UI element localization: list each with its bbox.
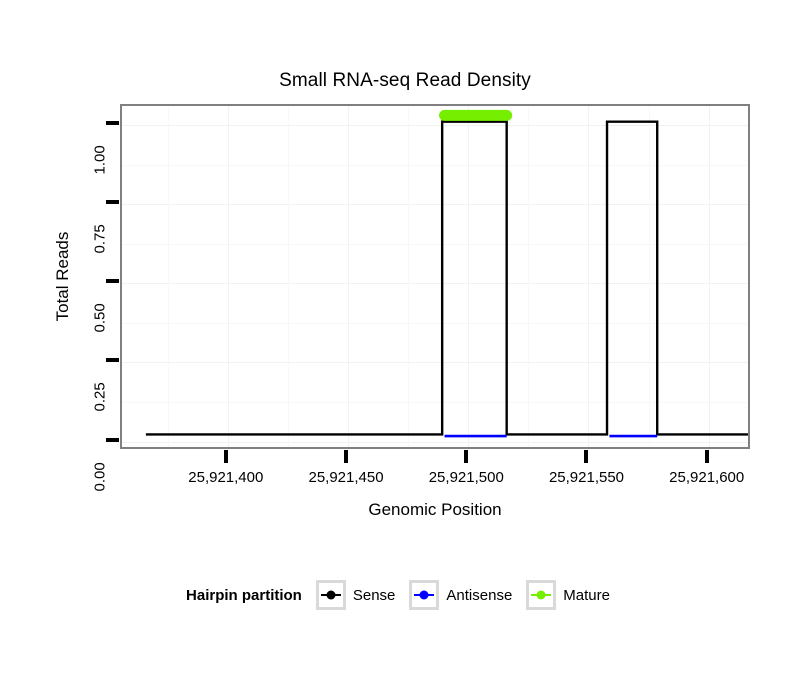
chart-legend: Hairpin partition SenseAntisenseMature <box>0 580 810 610</box>
legend-entry-sense[interactable]: Sense <box>316 580 396 610</box>
x-tick-label: 25,921,500 <box>429 469 504 486</box>
y-axis-title: Total Reads <box>48 104 78 449</box>
x-tick-label: 25,921,450 <box>308 469 383 486</box>
x-tick-mark <box>224 450 228 463</box>
x-tick-mark <box>584 450 588 463</box>
y-tick-label: 0.25 <box>92 360 109 412</box>
legend-label: Antisense <box>446 587 512 604</box>
y-tick-label: 0.00 <box>92 439 109 491</box>
y-tick-label: 0.75 <box>92 202 109 254</box>
chart-title: Small RNA-seq Read Density <box>0 70 810 92</box>
legend-key-swatch-antisense <box>409 580 439 610</box>
data-layer <box>122 106 748 447</box>
x-tick-mark <box>344 450 348 463</box>
legend-key-dot <box>326 591 335 600</box>
plot-panel-inner <box>122 106 748 447</box>
x-tick-mark <box>464 450 468 463</box>
x-tick-mark <box>705 450 709 463</box>
legend-key-swatch-mature <box>526 580 556 610</box>
legend-title: Hairpin partition <box>186 587 302 604</box>
legend-key-dot <box>420 591 429 600</box>
y-tick-label: 0.50 <box>92 281 109 333</box>
legend-entry-antisense[interactable]: Antisense <box>409 580 512 610</box>
legend-label: Mature <box>563 587 610 604</box>
x-tick-label: 25,921,400 <box>188 469 263 486</box>
legend-key-dot <box>537 591 546 600</box>
legend-label: Sense <box>353 587 396 604</box>
x-tick-label: 25,921,550 <box>549 469 624 486</box>
x-tick-label: 25,921,600 <box>669 469 744 486</box>
legend-key-swatch-sense <box>316 580 346 610</box>
x-axis-title: Genomic Position <box>120 500 750 520</box>
chart-figure: Small RNA-seq Read Density 0.000.250.500… <box>0 0 810 690</box>
series-line-sense <box>146 122 748 435</box>
y-tick-label: 1.00 <box>92 122 109 174</box>
plot-panel <box>120 104 750 449</box>
legend-entry-mature[interactable]: Mature <box>526 580 610 610</box>
